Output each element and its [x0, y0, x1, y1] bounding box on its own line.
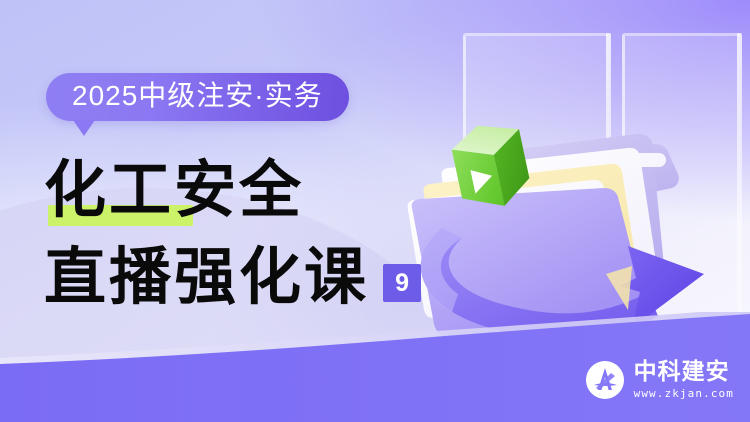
badge-pill: 2025中级注安·实务 [46, 73, 349, 121]
course-category-badge: 2025中级注安·实务 [46, 73, 349, 121]
headline-row-1: 化工安全 [44, 155, 421, 229]
logo-circle-icon [585, 360, 625, 400]
logo-text-block: 中科建安 www.zkjan.com [634, 360, 734, 399]
headline-block: 化工安全 直播强化课 9 [44, 155, 421, 308]
decorative-pillar-2 [737, 33, 742, 335]
badge-label: 2025中级注安·实务 [72, 80, 323, 111]
course-illustration [396, 96, 736, 346]
badge-tail-icon [73, 120, 95, 136]
headline-row-2: 直播强化课 9 [44, 234, 421, 308]
episode-number-badge: 9 [383, 264, 421, 302]
course-banner: 2025中级注安·实务 化工安全 直播强化课 9 中科建安 www.zkjan.… [0, 0, 750, 422]
title-line-1: 化工安全 [44, 155, 421, 221]
brand-logo[interactable]: 中科建安 www.zkjan.com [585, 360, 734, 400]
title-line-2: 直播强化课 [44, 242, 369, 308]
logo-website-url: www.zkjan.com [634, 387, 734, 400]
logo-brand-name: 中科建安 [634, 360, 734, 384]
